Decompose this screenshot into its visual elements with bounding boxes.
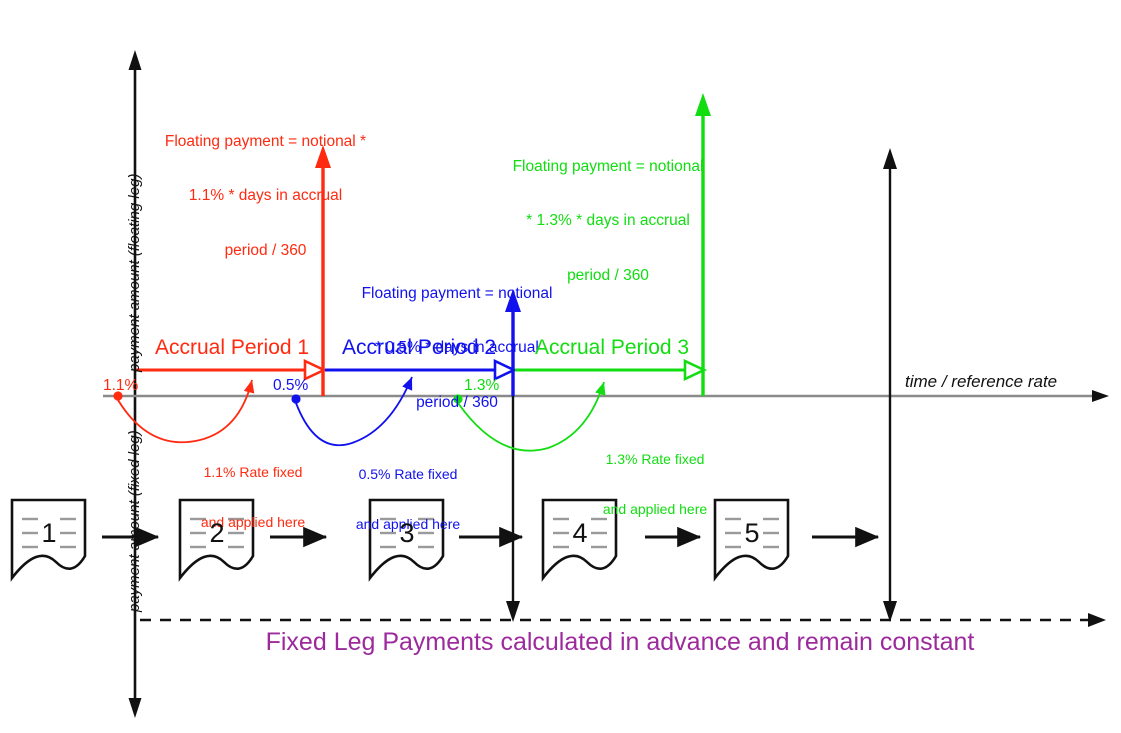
x-axis-label: time / reference rate bbox=[905, 372, 1057, 392]
period-2-fixing-note-line-1: 0.5% Rate fixed bbox=[313, 466, 503, 483]
period-3-title: Accrual Period 3 bbox=[535, 336, 689, 361]
period-1-formula-line-2: 1.1% * days in accrual bbox=[143, 187, 388, 205]
period-1-formula-line-1: Floating payment = notional * bbox=[143, 133, 388, 151]
period-3-fixing-note-line-2: and applied here bbox=[560, 501, 750, 518]
y-axis-lower-label: payment amount (fixed leg) bbox=[126, 430, 144, 612]
period-3-fixing-note-line-1: 1.3% Rate fixed bbox=[560, 451, 750, 468]
period-3-formula-line-1: Floating payment = notional bbox=[478, 158, 738, 176]
fixed-leg-document-5-number: 5 bbox=[737, 518, 767, 550]
period-2-formula-line-3: period / 360 bbox=[327, 394, 587, 412]
period-boundary-line-right bbox=[883, 148, 897, 622]
period-3-formula: Floating payment = notional * 1.3% * day… bbox=[478, 121, 738, 322]
period-3-formula-line-2: * 1.3% * days in accrual bbox=[478, 212, 738, 230]
period-3-formula-line-3: period / 360 bbox=[478, 267, 738, 285]
fixed-leg-caption: Fixed Leg Payments calculated in advance… bbox=[170, 628, 1070, 658]
period-2-rate-tick: 0.5% bbox=[273, 377, 308, 395]
fixed-leg-document-2-number: 2 bbox=[202, 518, 232, 550]
period-1-rate-tick: 1.1% bbox=[103, 377, 138, 395]
fixed-leg-document-3-number: 3 bbox=[392, 518, 422, 550]
period-1-title: Accrual Period 1 bbox=[155, 336, 309, 361]
period-2-title: Accrual Period 2 bbox=[342, 336, 496, 361]
fixed-leg-document-1-number: 1 bbox=[34, 518, 64, 550]
fixed-leg-document-4-number: 4 bbox=[565, 518, 595, 550]
fixed-leg-timeline bbox=[140, 613, 1106, 627]
diagram-canvas: payment amount (floating leg) payment am… bbox=[0, 0, 1121, 733]
y-axis-upper-label: payment amount (floating leg) bbox=[126, 174, 144, 372]
period-3-rate-tick: 1.3% bbox=[464, 377, 499, 395]
